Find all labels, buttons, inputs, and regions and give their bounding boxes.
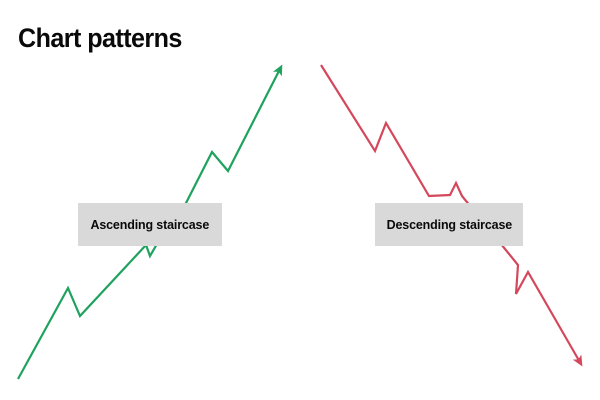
descending-staircase-label-text: Descending staircase — [386, 217, 511, 232]
ascending-staircase-label-text: Ascending staircase — [91, 217, 210, 232]
ascending-staircase-label: Ascending staircase — [78, 203, 222, 246]
chart-lines-canvas — [0, 0, 600, 400]
chart-patterns-figure: Chart patterns Ascending staircase Desce… — [0, 0, 600, 400]
descending-staircase-label: Descending staircase — [375, 203, 523, 246]
